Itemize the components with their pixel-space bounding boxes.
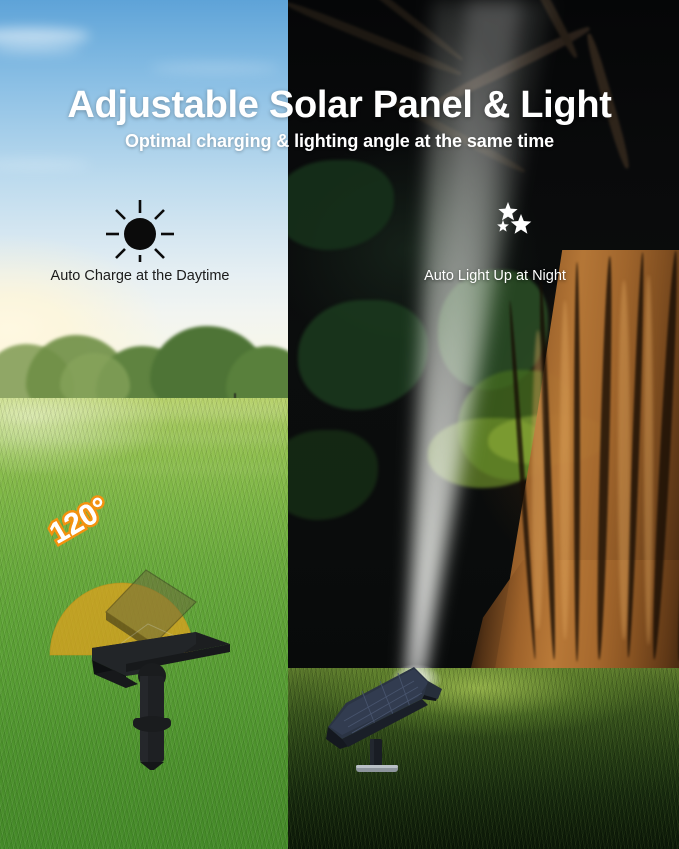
nighttime-panel — [288, 0, 679, 849]
solar-light-fixture-night — [318, 655, 458, 775]
bark-highlight — [644, 275, 653, 645]
bark-highlight — [618, 280, 630, 640]
page-title: Adjustable Solar Panel & Light — [0, 84, 679, 127]
page-subtitle: Optimal charging & lighting angle at the… — [0, 131, 679, 152]
bark-highlight — [532, 330, 544, 630]
bark-furrow — [574, 262, 580, 662]
daytime-panel: 120° 120° — [0, 0, 288, 849]
feature-daytime-label: Auto Charge at the Daytime — [0, 268, 280, 284]
cloud-wisp — [150, 62, 280, 74]
star-icon — [497, 220, 509, 232]
star-icon — [498, 202, 517, 220]
feature-daytime: Auto Charge at the Daytime — [0, 196, 280, 284]
sun-icon — [104, 196, 176, 262]
solar-light-fixture-day — [78, 614, 238, 774]
bark-highlight — [560, 300, 570, 640]
feature-nighttime-label: Auto Light Up at Night — [365, 268, 625, 284]
product-feature-image: 120° 120° — [0, 0, 679, 849]
star-icon — [511, 214, 532, 234]
feature-nighttime: Auto Light Up at Night — [365, 196, 625, 284]
moon-stars-icon — [457, 196, 533, 262]
